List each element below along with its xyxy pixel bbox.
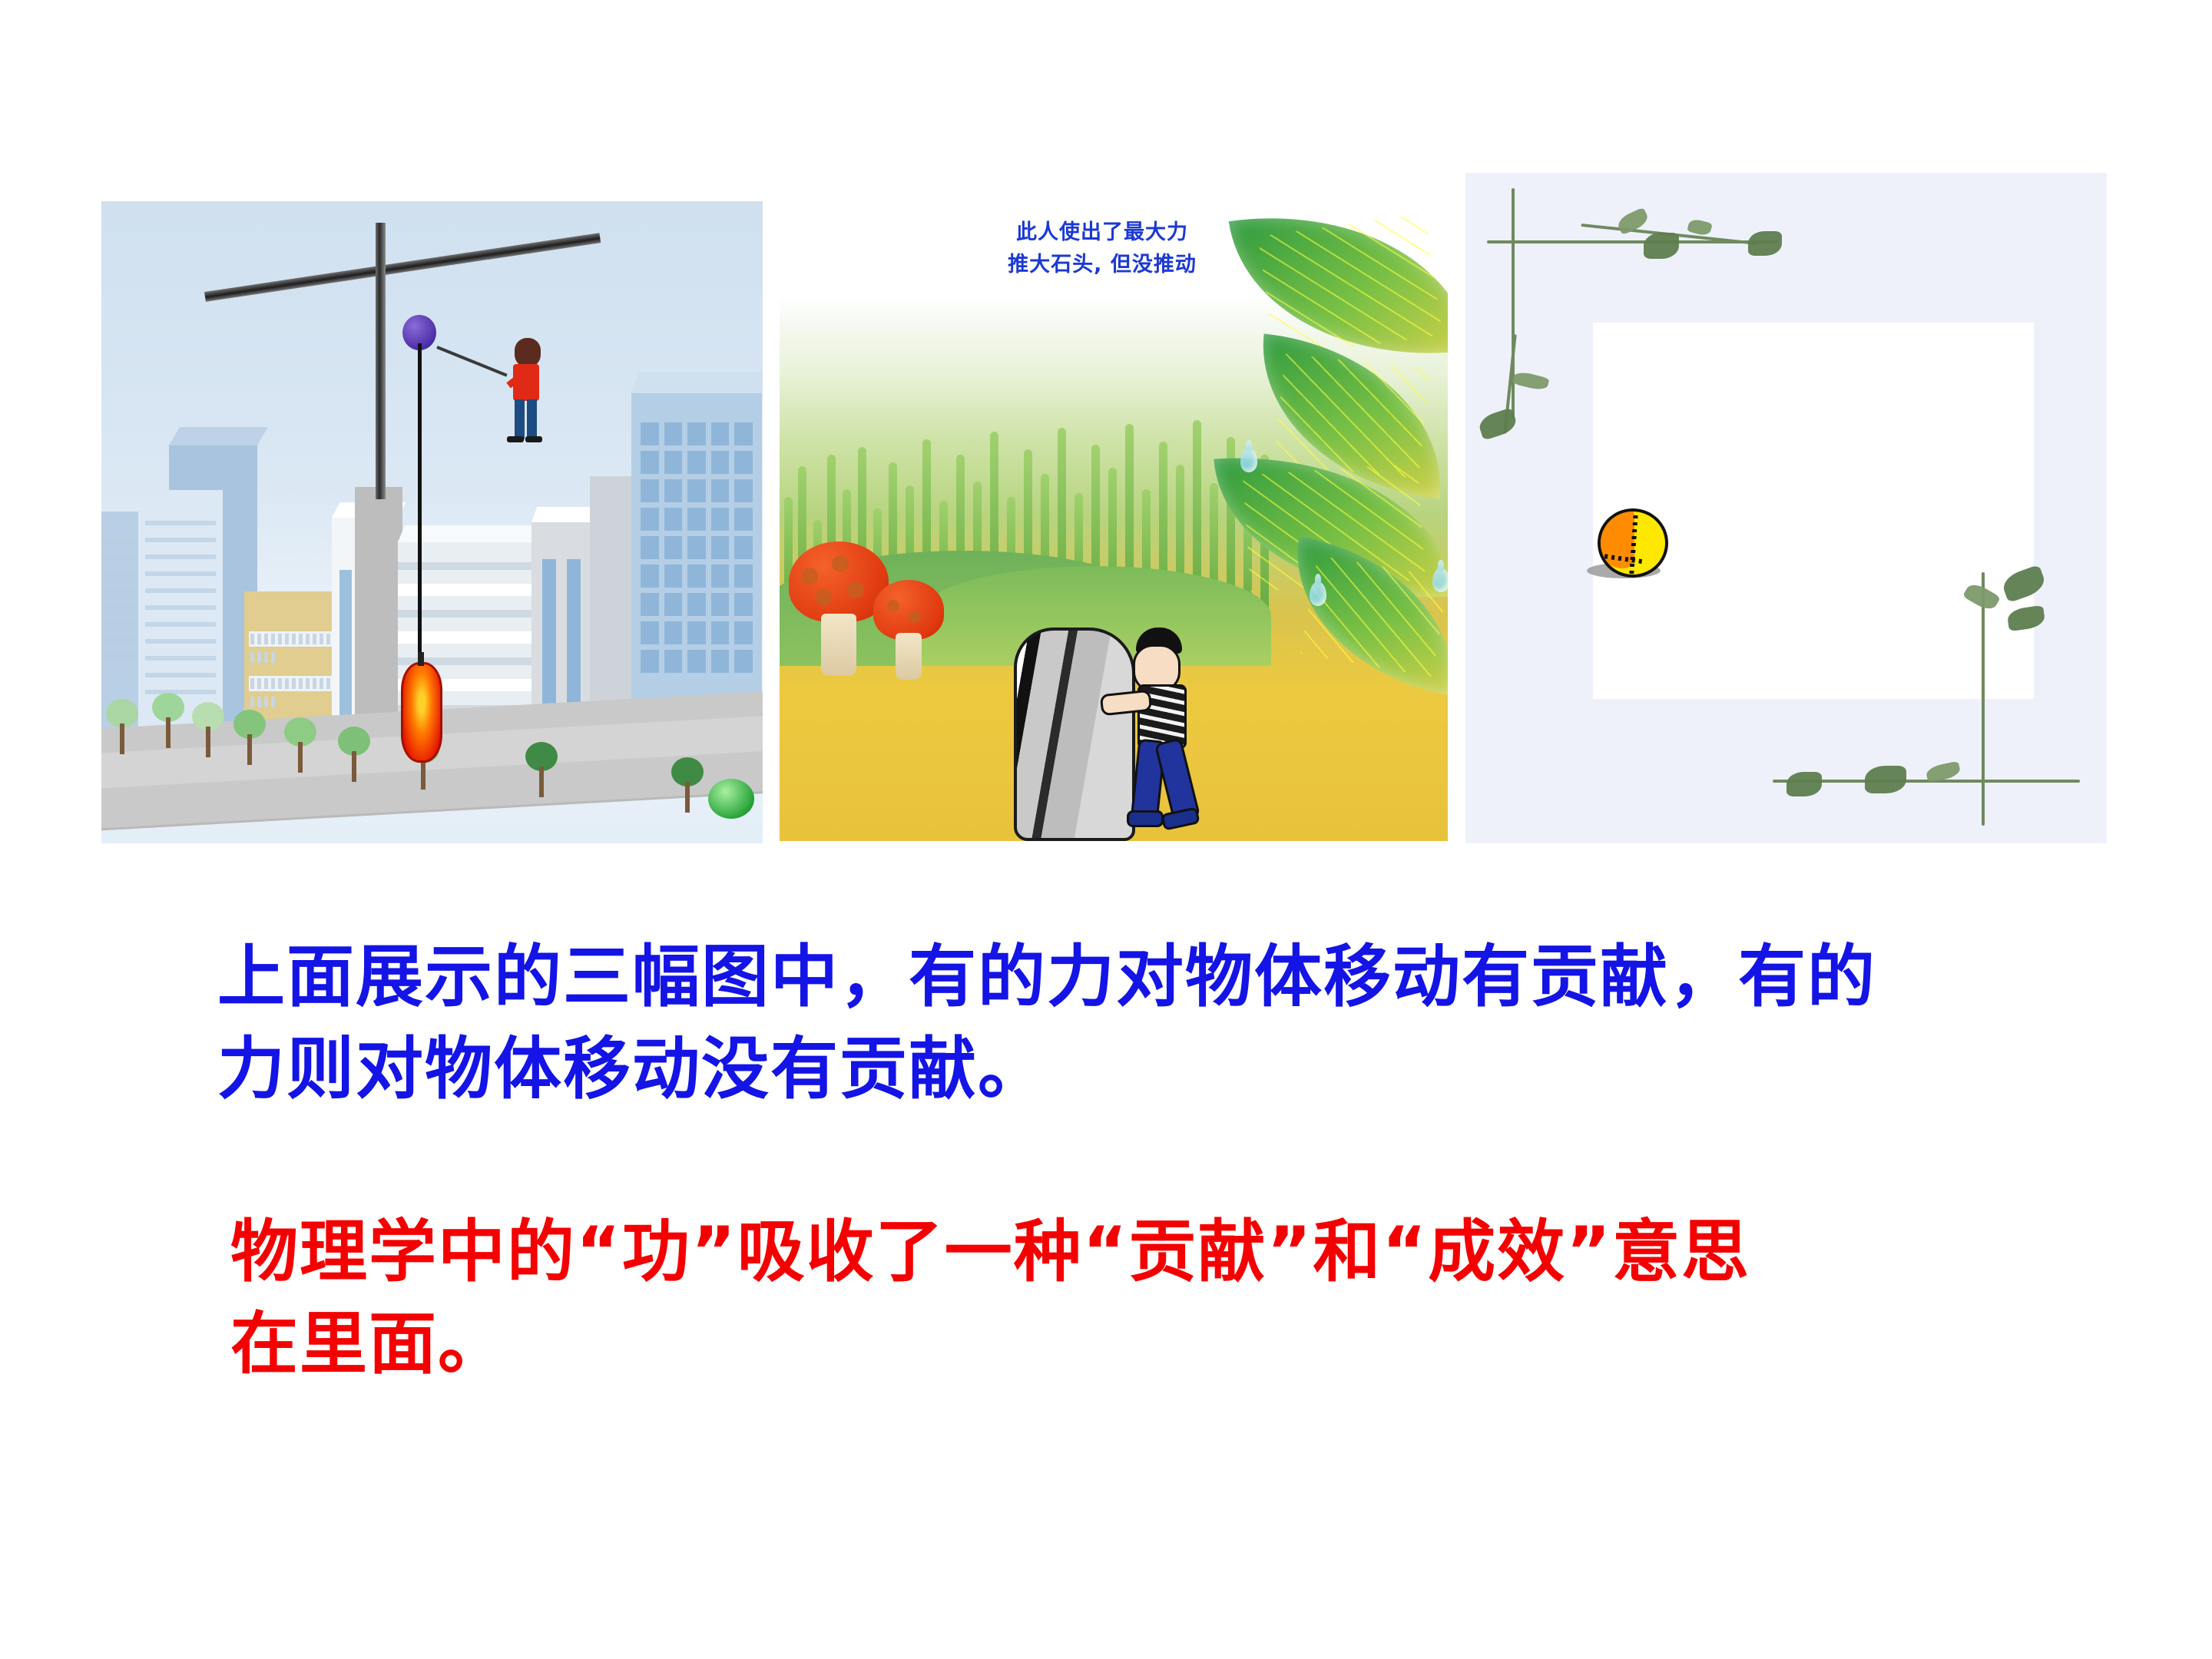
window-grid: [641, 422, 753, 676]
building-grey-narrow: [355, 487, 402, 748]
plant-stem-icon: [1982, 572, 1985, 826]
water-drop-icon: [1240, 448, 1257, 472]
bush-icon: [708, 779, 754, 819]
plant-sprig-icon: [1786, 772, 1822, 796]
meadow-scene: [780, 297, 1448, 841]
blue-line-2: 力则对物体移动没有贡献。: [0, 1023, 2212, 1115]
mushroom-cap: [873, 580, 944, 640]
mushroom-stem: [896, 633, 921, 679]
plant-sprig-icon: [1748, 231, 1782, 256]
red-paragraph: 物理学中的“功”吸收了一种“贡献”和“成效”意思 在里面。: [0, 1206, 2212, 1390]
worker-head: [515, 338, 541, 367]
worker-shoe: [507, 436, 524, 442]
plant-sprig-icon: [1644, 233, 1679, 259]
plant-sprig-icon: [1477, 407, 1519, 440]
mushroom-small: [873, 580, 944, 677]
water-drop-icon: [1432, 568, 1448, 592]
slide-canvas: 此人使出了最大力 推大石头, 但没推动: [0, 0, 2212, 1659]
hoist-cable: [418, 343, 422, 704]
man-pushing-figure: [1118, 628, 1210, 835]
red-line-2: 在里面。: [0, 1298, 2212, 1390]
white-inner-card: [1593, 323, 2034, 699]
plant-sprig-icon: [1687, 217, 1713, 237]
plant-sprig-icon: [1512, 370, 1550, 392]
plant-stem-icon: [1512, 188, 1515, 419]
figure-ball-on-card: [1465, 173, 2107, 843]
worker-leg: [527, 399, 537, 439]
glass-stripe: [339, 570, 352, 724]
water-drop-icon: [1310, 581, 1326, 606]
worker-shoe: [525, 436, 542, 442]
mushroom-stem: [821, 614, 857, 677]
crane-mast: [376, 223, 386, 499]
ball-icon: [1598, 508, 1668, 578]
red-line-1: 物理学中的“功”吸收了一种“贡献”和“成效”意思: [0, 1206, 2212, 1298]
figure-man-pushing-rock: 此人使出了最大力 推大石头, 但没推动: [780, 201, 1448, 841]
plant-sprig-icon: [1865, 766, 1906, 793]
blue-paragraph: 上面展示的三幅图中，有的力对物体移动有贡献，有的 力则对物体移动没有贡献。: [0, 931, 2212, 1115]
blue-line-1: 上面展示的三幅图中，有的力对物体移动有贡献，有的: [0, 931, 2212, 1023]
worker-figure: [501, 338, 548, 445]
figure-city-crane: [101, 201, 763, 843]
crane-arm: [204, 233, 601, 302]
worker-leg: [515, 399, 525, 439]
window-rows: [145, 521, 216, 724]
hand-rope: [436, 346, 507, 376]
man-shoe: [1127, 810, 1164, 827]
hoisted-lantern: [401, 662, 442, 763]
